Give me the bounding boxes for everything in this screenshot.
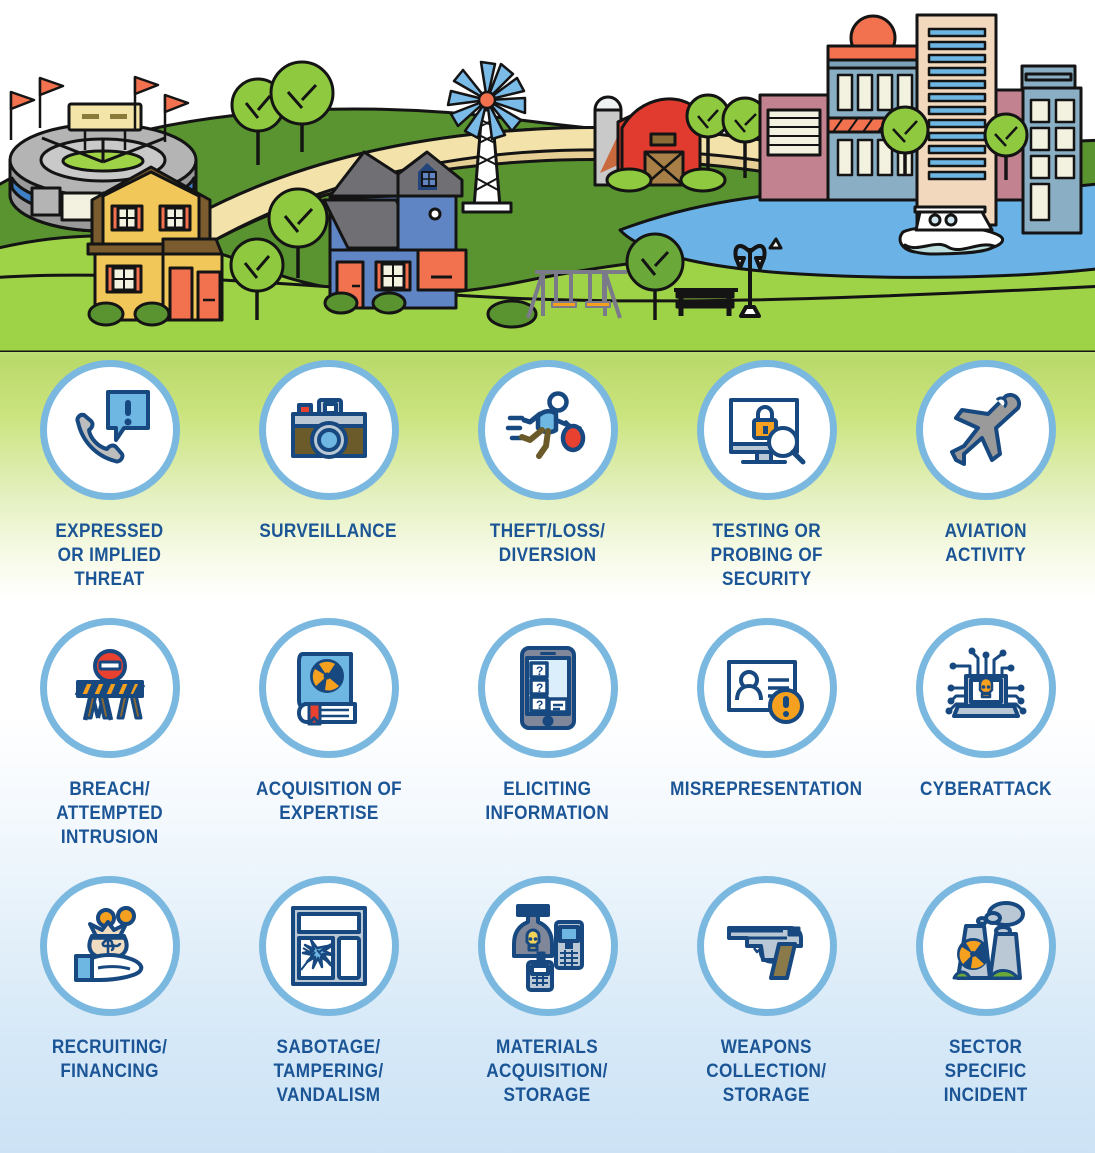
- indicator-label: SURVEILLANCE: [260, 519, 397, 543]
- indicator-cell-cyberattack[interactable]: CYBERATTACK: [876, 610, 1095, 868]
- indicator-label: THEFT/LOSS/ DIVERSION: [490, 519, 605, 567]
- laptop-skull-circuit-icon: [940, 642, 1032, 734]
- indicator-label: ELICITING INFORMATION: [486, 777, 610, 825]
- indicator-label: SABOTAGE/ TAMPERING/ VANDALISM: [273, 1035, 383, 1107]
- icon-bubble: [40, 360, 180, 500]
- indicator-cell-aviation-activity[interactable]: AVIATION ACTIVITY: [876, 352, 1095, 610]
- indicator-cell-breach-attempted-intrusion[interactable]: BREACH/ ATTEMPTED INTRUSION: [0, 610, 219, 868]
- icon-bubble: [697, 618, 837, 758]
- indicator-cell-testing-or-probing-of-security[interactable]: TESTING OR PROBING OF SECURITY: [657, 352, 876, 610]
- indicator-label: AVIATION ACTIVITY: [944, 519, 1026, 567]
- poison-bottle-phone-radio-icon: [502, 900, 594, 992]
- icon-bubble: [916, 618, 1056, 758]
- icon-bubble: [259, 876, 399, 1016]
- indicator-cell-expressed-or-implied-threat[interactable]: EXPRESSED OR IMPLIED THREAT: [0, 352, 219, 610]
- icon-bubble: [478, 360, 618, 500]
- hand-money-bags-icon: [64, 900, 156, 992]
- suspicious-activity-indicators-infographic: EXPRESSED OR IMPLIED THREAT SURVE: [0, 0, 1095, 1153]
- id-card-alert-icon: [721, 642, 813, 734]
- monitor-lock-magnifier-icon: [721, 384, 813, 476]
- svg-text:?: ?: [536, 681, 543, 695]
- indicator-cell-sabotage-tampering-vandalism[interactable]: SABOTAGE/ TAMPERING/ VANDALISM: [219, 868, 438, 1126]
- indicator-cell-eliciting-information[interactable]: ??? ELICITING INFORMATION: [438, 610, 657, 868]
- skyscraper: [917, 15, 996, 225]
- indicator-label: TESTING OR PROBING OF SECURITY: [710, 519, 822, 591]
- indicator-cell-materials-acquisition-storage[interactable]: MATERIALS ACQUISITION/ STORAGE: [438, 868, 657, 1126]
- camera-icon: [283, 384, 375, 476]
- airplane-icon: [940, 384, 1032, 476]
- indicator-label: RECRUITING/ FINANCING: [52, 1035, 167, 1083]
- icon-bubble: [697, 876, 837, 1016]
- handgun-icon: [721, 900, 813, 992]
- broken-window-icon: [283, 900, 375, 992]
- blue-house: [324, 152, 466, 313]
- indicator-label: WEAPONS COLLECTION/ STORAGE: [706, 1035, 826, 1107]
- icon-bubble: [697, 360, 837, 500]
- indicator-label: MISREPRESENTATION: [670, 777, 862, 801]
- indicator-grid: EXPRESSED OR IMPLIED THREAT SURVE: [0, 352, 1095, 1126]
- icon-bubble: ???: [478, 618, 618, 758]
- icon-bubble: [259, 360, 399, 500]
- community-landscape-illustration: [0, 0, 1095, 352]
- indicator-label: SECTOR SPECIFIC INCIDENT: [944, 1035, 1028, 1107]
- indicator-cell-weapons-collection-storage[interactable]: WEAPONS COLLECTION/ STORAGE: [657, 868, 876, 1126]
- indicator-label: BREACH/ ATTEMPTED INTRUSION: [56, 777, 163, 849]
- indicator-label: MATERIALS ACQUISITION/ STORAGE: [487, 1035, 608, 1107]
- icon-bubble: [916, 876, 1056, 1016]
- barricade-no-entry-icon: [64, 642, 156, 734]
- icon-bubble: [478, 876, 618, 1016]
- indicator-cell-surveillance[interactable]: SURVEILLANCE: [219, 352, 438, 610]
- indicator-cell-recruiting-financing[interactable]: RECRUITING/ FINANCING: [0, 868, 219, 1126]
- icon-bubble: [916, 360, 1056, 500]
- indicator-label: ACQUISITION OF EXPERTISE: [255, 777, 401, 825]
- indicator-label: CYBERATTACK: [920, 777, 1052, 801]
- indicator-cell-sector-specific-incident[interactable]: SECTOR SPECIFIC INCIDENT: [876, 868, 1095, 1126]
- indicator-cell-misrepresentation[interactable]: MISREPRESENTATION: [657, 610, 876, 868]
- icon-bubble: [40, 618, 180, 758]
- phone-alert-icon: [64, 384, 156, 476]
- nuclear-plant-icon: [940, 900, 1032, 992]
- book-radiation-icon: [283, 642, 375, 734]
- icon-bubble: [259, 618, 399, 758]
- right-building: [1022, 66, 1081, 233]
- running-thief-icon: [502, 384, 594, 476]
- smartphone-question-chat-icon: ???: [502, 642, 594, 734]
- indicator-cell-acquisition-of-expertise[interactable]: ACQUISITION OF EXPERTISE: [219, 610, 438, 868]
- svg-text:?: ?: [536, 664, 543, 678]
- icon-bubble: [40, 876, 180, 1016]
- svg-text:?: ?: [536, 698, 543, 712]
- indicator-cell-theft-loss-diversion[interactable]: THEFT/LOSS/ DIVERSION: [438, 352, 657, 610]
- indicator-label: EXPRESSED OR IMPLIED THREAT: [55, 519, 163, 591]
